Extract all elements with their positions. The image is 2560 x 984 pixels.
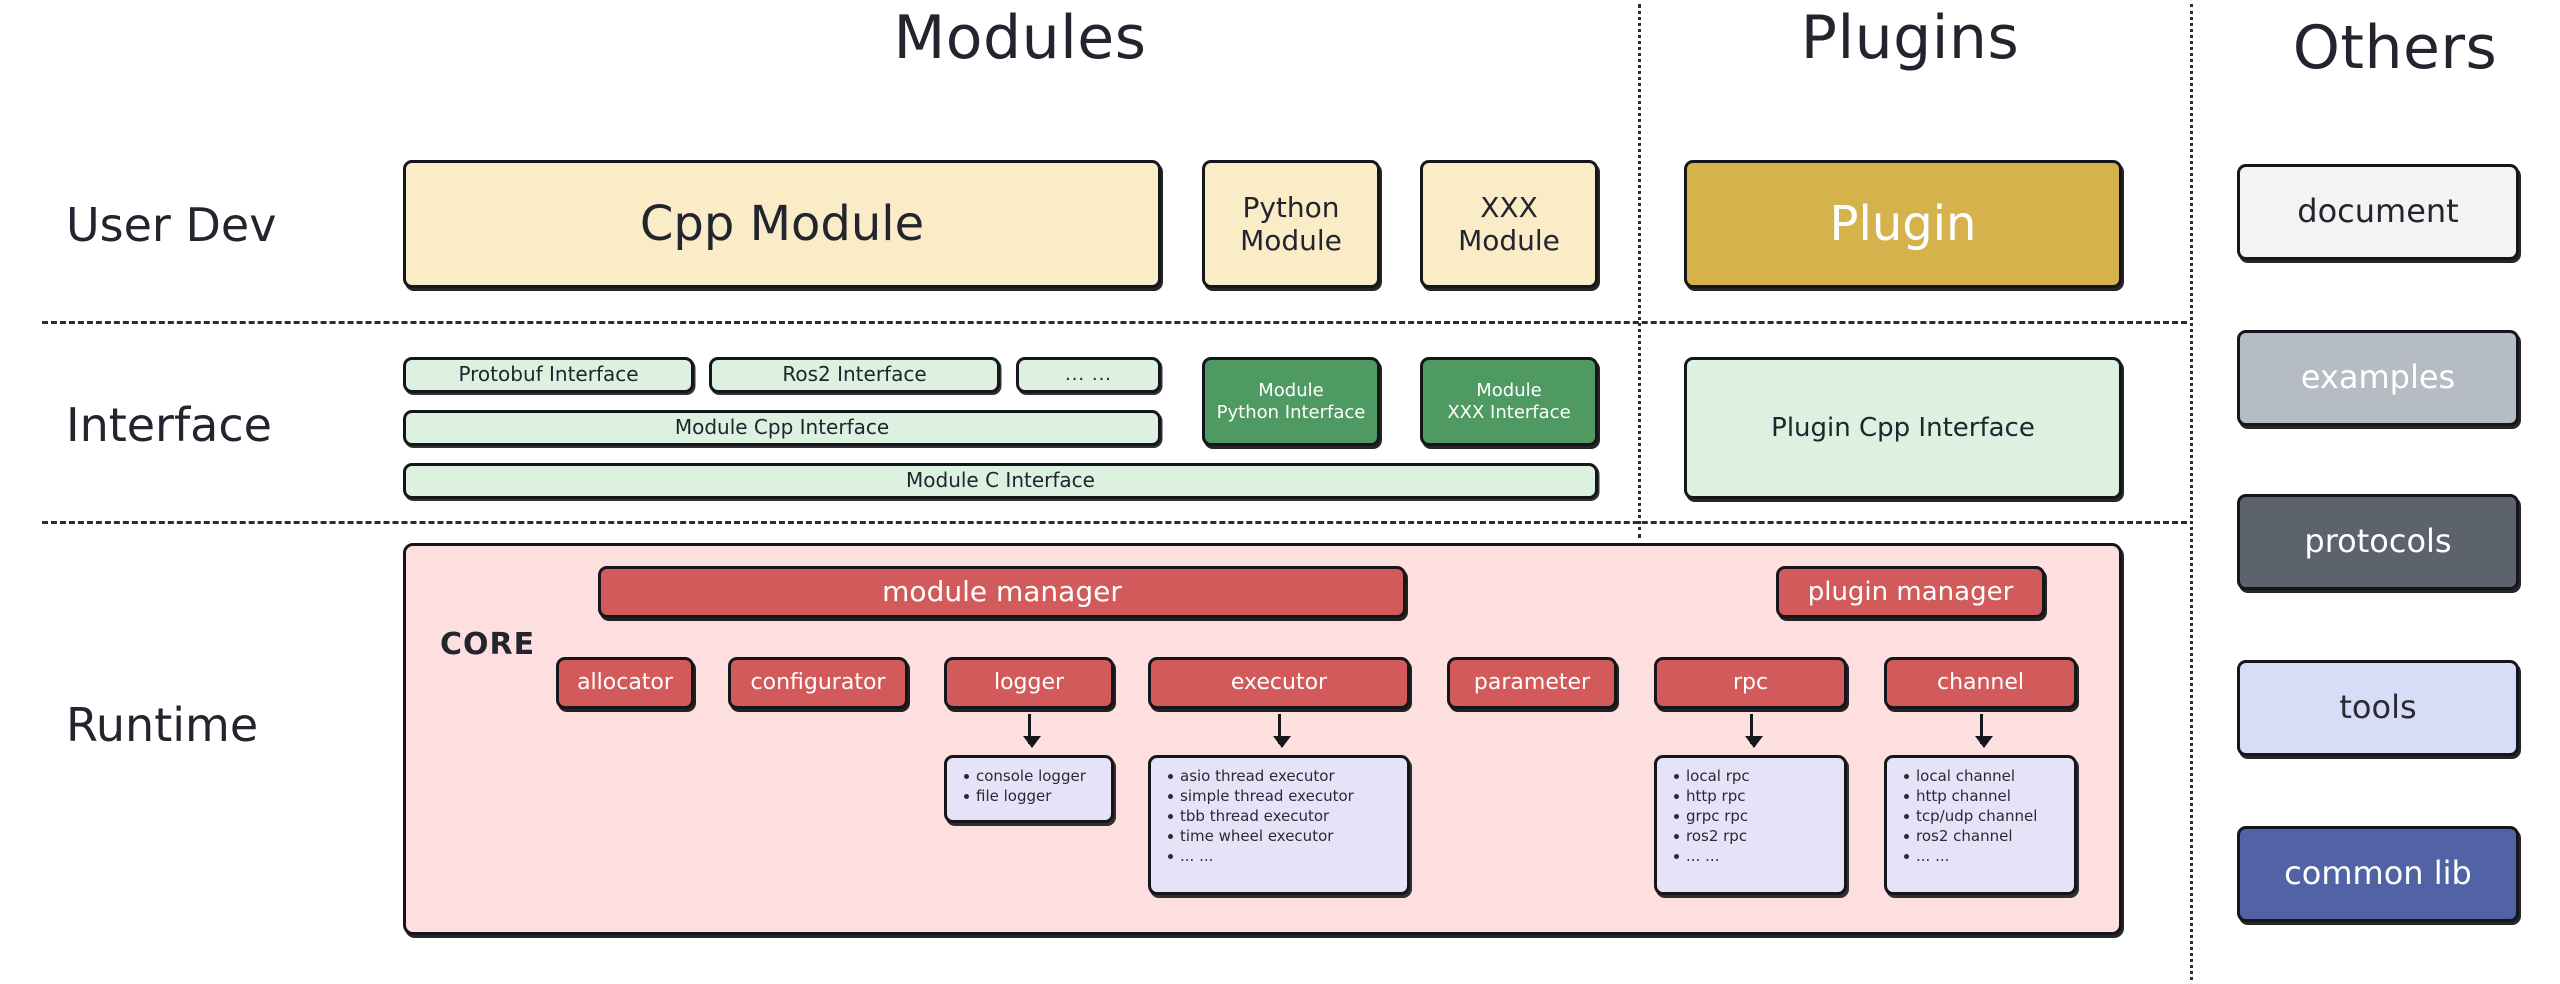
channel-detail-list[interactable]: local channelhttp channeltcp/udp channel…: [1884, 755, 2077, 895]
executor-arrow-icon: [1278, 714, 1281, 744]
python-module-label-line2: Module: [1240, 224, 1342, 257]
divider-plugins-others: [2190, 4, 2193, 980]
list-item: ... ...: [1686, 847, 1834, 867]
others-examples-box[interactable]: examples: [2237, 330, 2519, 426]
module-xxx-interface-label-line1: Module: [1476, 380, 1541, 401]
module-c-interface-box[interactable]: Module C Interface: [403, 463, 1598, 499]
rpc-arrow-icon: [1750, 714, 1753, 744]
protobuf-interface-box[interactable]: Protobuf Interface: [403, 357, 694, 393]
executor-box[interactable]: executor: [1148, 657, 1410, 709]
divider-modules-plugins: [1638, 4, 1641, 538]
python-module-label-line1: Python: [1242, 191, 1339, 224]
module-cpp-interface-box[interactable]: Module Cpp Interface: [403, 410, 1161, 446]
architecture-diagram: Modules Plugins Others User Dev Interfac…: [0, 0, 2560, 984]
others-document-box[interactable]: document: [2237, 164, 2519, 260]
list-item: ... ...: [1180, 847, 1397, 867]
list-item: tcp/udp channel: [1916, 807, 2064, 827]
row-label-interface: Interface: [66, 402, 272, 448]
divider-userdev-interface: [42, 321, 2187, 324]
module-python-interface-label-line2: Python Interface: [1217, 402, 1366, 423]
xxx-module-label-line1: XXX: [1480, 191, 1538, 224]
rpc-detail-list[interactable]: local rpchttp rpcgrpc rpcros2 rpc... ...: [1654, 755, 1847, 895]
list-item: http channel: [1916, 787, 2064, 807]
list-item: file logger: [976, 787, 1101, 807]
logger-detail-list[interactable]: console loggerfile logger: [944, 755, 1114, 823]
list-item: ros2 rpc: [1686, 827, 1834, 847]
list-item: asio thread executor: [1180, 767, 1397, 787]
list-item: time wheel executor: [1180, 827, 1397, 847]
allocator-box[interactable]: allocator: [556, 657, 694, 709]
others-common-lib-box[interactable]: common lib: [2237, 826, 2519, 922]
channel-box[interactable]: channel: [1884, 657, 2077, 709]
module-xxx-interface-box[interactable]: Module XXX Interface: [1420, 357, 1598, 446]
channel-items: local channelhttp channeltcp/udp channel…: [1899, 767, 2064, 867]
module-python-interface-label-line1: Module: [1258, 380, 1323, 401]
plugin-box[interactable]: Plugin: [1684, 160, 2122, 288]
list-item: tbb thread executor: [1180, 807, 1397, 827]
logger-arrow-icon: [1028, 714, 1031, 744]
configurator-box[interactable]: configurator: [728, 657, 908, 709]
column-title-others: Others: [2245, 18, 2545, 78]
more-interface-box[interactable]: ... ...: [1016, 357, 1161, 393]
xxx-module-label-line2: Module: [1458, 224, 1560, 257]
python-module-box[interactable]: Python Module: [1202, 160, 1380, 288]
list-item: console logger: [976, 767, 1101, 787]
others-tools-box[interactable]: tools: [2237, 660, 2519, 756]
core-label: CORE: [440, 627, 535, 662]
others-protocols-box[interactable]: protocols: [2237, 494, 2519, 590]
row-label-runtime: Runtime: [66, 702, 258, 748]
ros2-interface-box[interactable]: Ros2 Interface: [709, 357, 1000, 393]
divider-interface-runtime: [42, 521, 2187, 524]
parameter-box[interactable]: parameter: [1447, 657, 1617, 709]
row-label-user-dev: User Dev: [66, 202, 276, 248]
plugin-cpp-interface-box[interactable]: Plugin Cpp Interface: [1684, 357, 2122, 499]
logger-items: console loggerfile logger: [959, 767, 1101, 807]
plugin-manager-box[interactable]: plugin manager: [1776, 566, 2045, 618]
xxx-module-box[interactable]: XXX Module: [1420, 160, 1598, 288]
rpc-items: local rpchttp rpcgrpc rpcros2 rpc... ...: [1669, 767, 1834, 867]
list-item: local rpc: [1686, 767, 1834, 787]
rpc-box[interactable]: rpc: [1654, 657, 1847, 709]
list-item: simple thread executor: [1180, 787, 1397, 807]
logger-box[interactable]: logger: [944, 657, 1114, 709]
executor-detail-list[interactable]: asio thread executorsimple thread execut…: [1148, 755, 1410, 895]
list-item: grpc rpc: [1686, 807, 1834, 827]
channel-arrow-icon: [1980, 714, 1983, 744]
module-manager-box[interactable]: module manager: [598, 566, 1406, 618]
list-item: http rpc: [1686, 787, 1834, 807]
column-title-plugins: Plugins: [1710, 8, 2110, 68]
list-item: ros2 channel: [1916, 827, 2064, 847]
column-title-modules: Modules: [820, 8, 1220, 68]
cpp-module-box[interactable]: Cpp Module: [403, 160, 1161, 288]
executor-items: asio thread executorsimple thread execut…: [1163, 767, 1397, 867]
module-xxx-interface-label-line2: XXX Interface: [1447, 402, 1570, 423]
module-python-interface-box[interactable]: Module Python Interface: [1202, 357, 1380, 446]
list-item: local channel: [1916, 767, 2064, 787]
list-item: ... ...: [1916, 847, 2064, 867]
